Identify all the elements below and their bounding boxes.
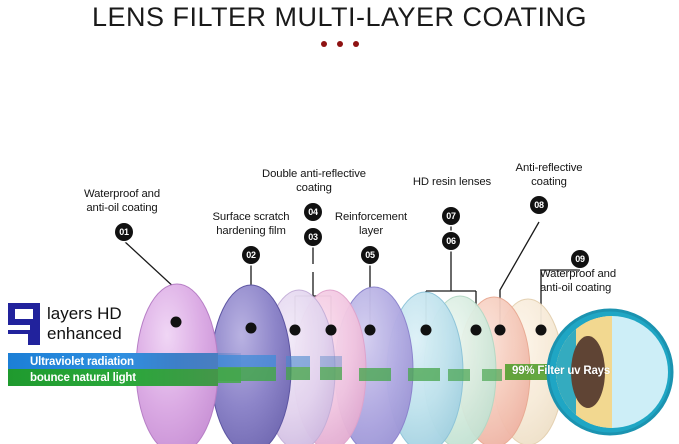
badge-06[interactable]: 06 xyxy=(442,232,460,250)
leader-dot-05 xyxy=(365,325,376,336)
badge-05[interactable]: 05 xyxy=(361,246,379,264)
leader-dot-06 xyxy=(421,325,432,336)
visible-beam-seg-8 xyxy=(482,369,502,381)
leader-dot-09 xyxy=(536,325,547,336)
leader-dot-04 xyxy=(326,325,337,336)
visible-beam-seg-5 xyxy=(359,368,391,381)
badge-07[interactable]: 07 xyxy=(442,207,460,225)
visible-beam-seg-2 xyxy=(216,367,276,381)
uv-radiation-bar: Ultraviolet radiation xyxy=(8,353,218,370)
lens-coating-infographic: LENS FILTER MULTI-LAYER COATING xyxy=(0,0,679,444)
leader-dot-03 xyxy=(290,325,301,336)
badge-08[interactable]: 08 xyxy=(530,196,548,214)
callout-label-0304: Double anti-reflective coating xyxy=(240,168,388,195)
callout-label-0607: HD resin lenses xyxy=(400,176,504,190)
badge-01[interactable]: 01 xyxy=(115,223,133,241)
callout-label-05: Reinforcement layer xyxy=(318,211,424,238)
callout-label-09: Waterproof and anti-oil coating xyxy=(540,268,670,295)
uv-radiation-bar-label: Ultraviolet radiation xyxy=(8,356,134,368)
nine-layers-badge: layers HDenhanced xyxy=(8,303,122,345)
visible-beam-seg-6 xyxy=(408,368,440,381)
callout-label-02: Surface scratch hardening film xyxy=(188,211,314,238)
leader-dot-02 xyxy=(246,323,257,334)
uv-beam-seg-3 xyxy=(286,356,310,367)
badge-04[interactable]: 04 xyxy=(304,203,322,221)
natural-light-bar: bounce natural light xyxy=(8,369,218,386)
leader-dot-07 xyxy=(471,325,482,336)
badge-03[interactable]: 03 xyxy=(304,228,322,246)
visible-beam-seg-4 xyxy=(320,367,342,380)
nine-layers-text: layers HDenhanced xyxy=(47,304,122,344)
natural-light-bar-label: bounce natural light xyxy=(8,372,136,384)
callout-label-01: Waterproof and anti-oil coating xyxy=(56,188,188,215)
nine-layers-line2: enhanced xyxy=(47,324,122,343)
uv-beam-seg-4 xyxy=(320,356,342,367)
leader-dot-08 xyxy=(495,325,506,336)
callout-label-08: Anti-reflective coating xyxy=(497,162,601,189)
nine-numeral-glyph xyxy=(8,303,40,345)
leader-dot-01 xyxy=(171,317,182,328)
visible-beam-seg-7 xyxy=(448,369,470,381)
uv-beam-seg-2 xyxy=(216,355,276,367)
nine-layers-line1: layers HD xyxy=(47,304,122,323)
visible-beam-seg-3 xyxy=(286,367,310,380)
badge-02[interactable]: 02 xyxy=(242,246,260,264)
uv-filter-arrow-label: 99% Filter uv Rays xyxy=(512,365,610,377)
badge-09[interactable]: 09 xyxy=(571,250,589,268)
